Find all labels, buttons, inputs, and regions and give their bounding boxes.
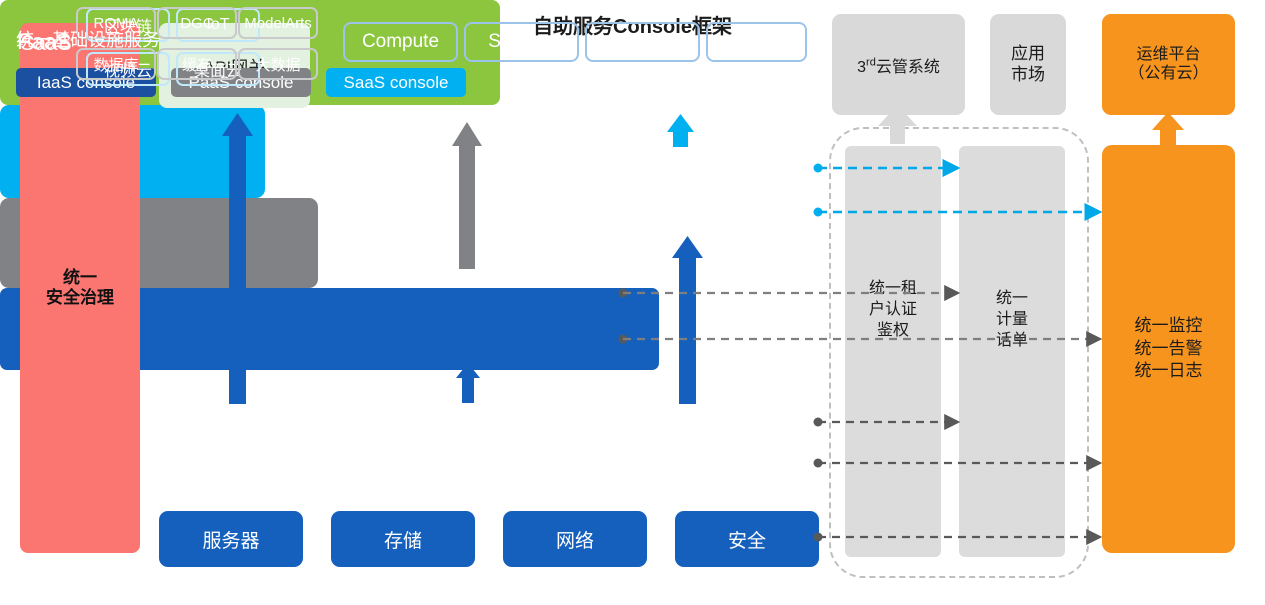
third-party-cloud-label: 3rd云管系统 (857, 53, 940, 77)
hardware-box-storage[interactable]: 存储 (331, 511, 475, 567)
security-governance-label: 统一 安全治理 (46, 268, 114, 308)
infra-chip-cce-label: CCE (736, 31, 776, 53)
architecture-diagram: 统一 安全治理 API网关 自助服务Console框架 IaaS console… (0, 0, 1265, 605)
infra-chip-storage[interactable]: Storage (464, 22, 579, 62)
auth-column-box (845, 146, 941, 557)
arrow-infra-to-saas (672, 236, 703, 404)
infra-chip-compute-label: Compute (362, 31, 439, 53)
ops-platform-right-box: 统一监控 统一告警 统一日志 (1102, 145, 1235, 553)
infra-chip-compute[interactable]: Compute (343, 22, 458, 62)
paas-chip-modelarts[interactable]: ModelArts (238, 7, 318, 39)
hardware-box-network[interactable]: 网络 (503, 511, 647, 567)
paas-chip-modelarts-label: ModelArts (244, 15, 312, 32)
paas-chip-database[interactable]: 数据库 (76, 48, 156, 80)
metering-column-box (959, 146, 1065, 557)
infra-chip-storage-label: Storage (488, 31, 555, 53)
ops-platform-right-label: 统一监控 统一告警 统一日志 (1135, 315, 1203, 384)
paas-chip-dgc[interactable]: DGC (157, 7, 237, 39)
arrow-paas-to-console (452, 122, 482, 269)
hardware-box-server-label: 服务器 (202, 526, 259, 553)
paas-chip-bigdata-label: 大数据 (255, 54, 300, 75)
infra-chip-cce[interactable]: CCE (706, 22, 807, 62)
arrow-ops-right-to-ops-top (1152, 112, 1184, 146)
paas-chip-cache-label: 缓存 (182, 54, 212, 75)
security-governance-panel: 统一 安全治理 (20, 23, 140, 553)
metering-column-label: 统一 计量 话单 (959, 288, 1065, 351)
paas-chip-cache[interactable]: 缓存 (157, 48, 237, 80)
hardware-box-network-label: 网络 (556, 526, 594, 553)
app-market-box: 应用 市场 (990, 14, 1066, 115)
arrow-saas-to-saas-console (667, 114, 694, 147)
paas-chip-database-label: 数据库 (93, 54, 138, 75)
hardware-box-server[interactable]: 服务器 (159, 511, 303, 567)
app-market-label: 应用 市场 (1011, 44, 1045, 84)
paas-chip-dgc-label: DGC (180, 15, 213, 32)
third-party-cloud-box: 3rd云管系统 (832, 14, 965, 115)
unified-infrastructure-label: 统一基础设施服务 (16, 26, 160, 52)
ops-platform-top-box: 运维平台 （公有云） (1102, 14, 1235, 115)
saas-console-label: SaaS console (344, 73, 449, 93)
infra-chip-network[interactable]: Network (585, 22, 700, 62)
hardware-box-storage-label: 存储 (384, 526, 422, 553)
paas-chip-bigdata[interactable]: 大数据 (238, 48, 318, 80)
hardware-box-security-label: 安全 (728, 526, 766, 553)
ops-platform-top-label: 运维平台 （公有云） (1128, 46, 1208, 84)
hardware-box-security[interactable]: 安全 (675, 511, 819, 567)
infra-chip-network-label: Network (608, 31, 678, 53)
saas-console-chip[interactable]: SaaS console (326, 68, 466, 97)
auth-column-label: 统一租 户认证 鉴权 (845, 278, 941, 341)
